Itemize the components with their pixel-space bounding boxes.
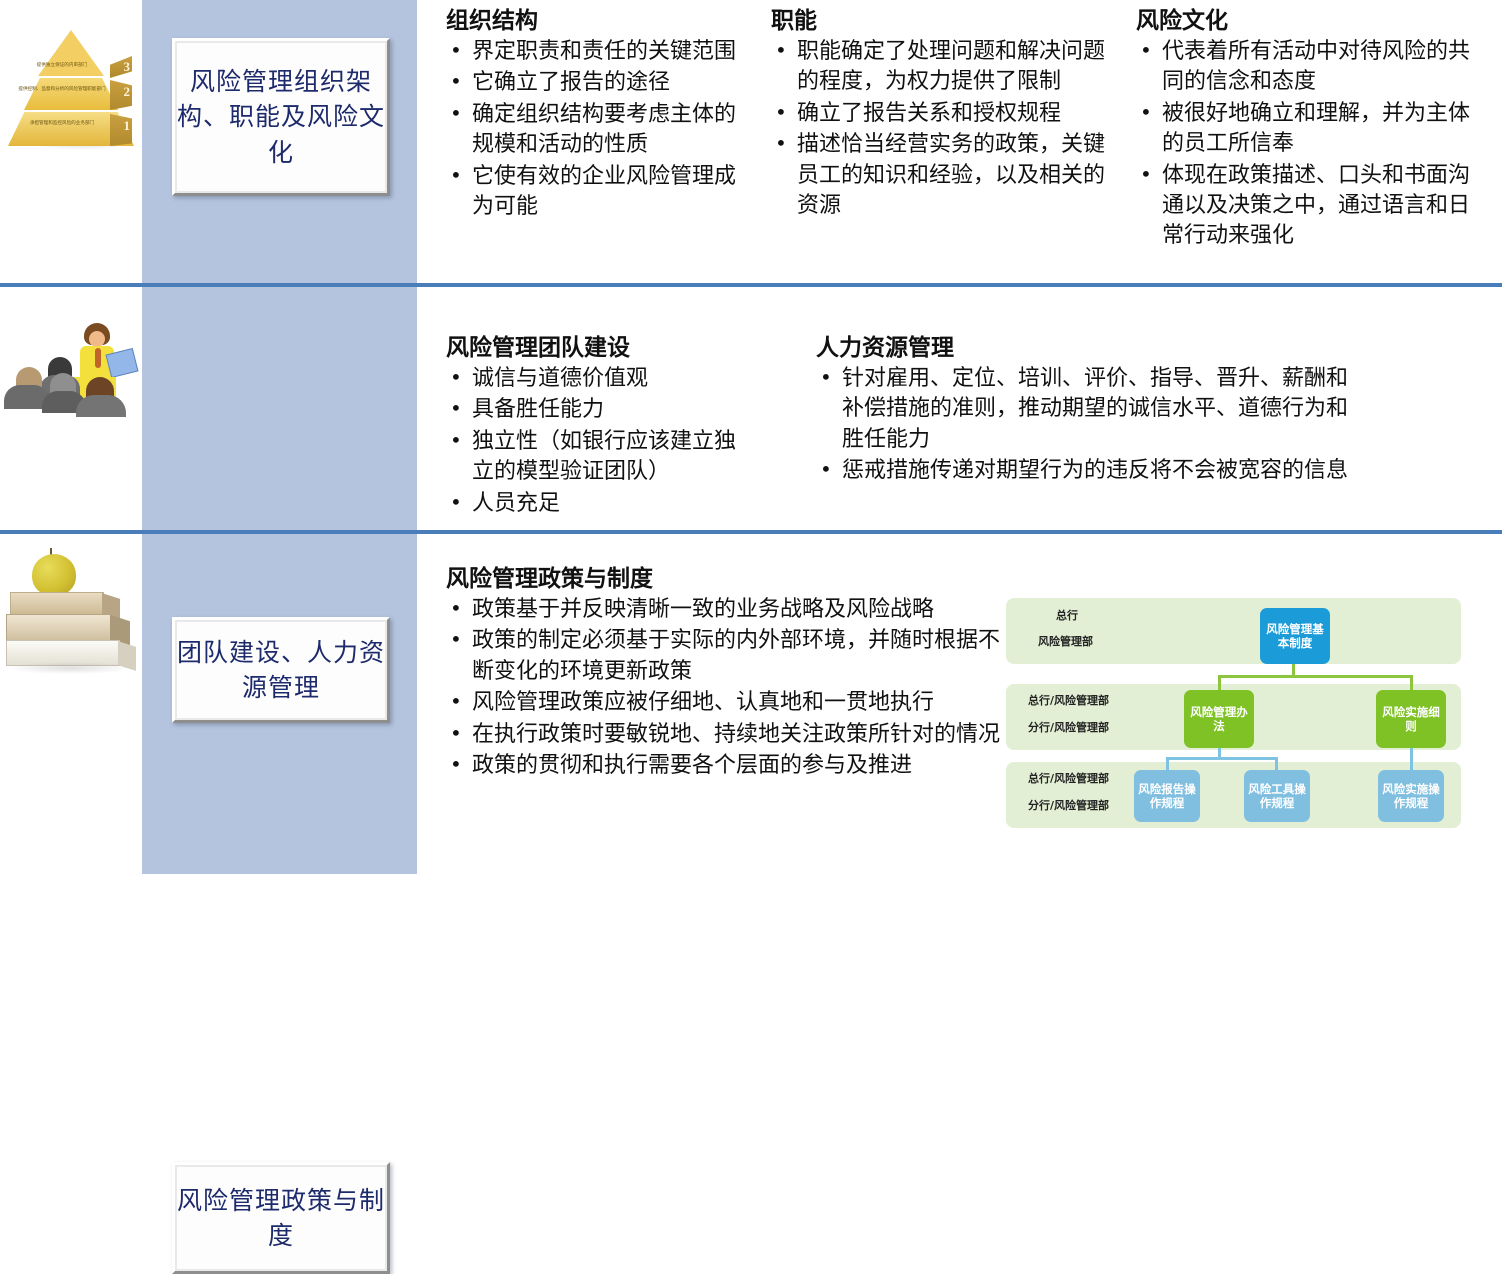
connector-l2-bus <box>1218 675 1413 678</box>
pyramid-icon: 3 2 1 提供独立保证的内审部门 提供控制、监督和分析的风险管理职能部门 承担… <box>8 26 134 156</box>
pyramid-tier-3-number: 3 <box>124 59 131 75</box>
list-item: 政策的贯彻和执行需要各个层面的参与及推进 <box>446 751 1006 781</box>
list-item: 独立性（如银行应该建立独立的模型验证团队） <box>446 427 756 488</box>
list-item: 它使有效的企业风险管理成为可能 <box>446 162 746 223</box>
band-3-label-2: 分行/风险管理部 <box>1028 800 1109 812</box>
row-divider-1 <box>0 283 1502 287</box>
list-item: 体现在政策描述、口头和书面沟通以及决策之中，通过语言和日常行动来强化 <box>1136 161 1488 252</box>
presenter-document <box>106 348 139 378</box>
list-item: 政策基于并反映清晰一致的业务战略及风险战略 <box>446 595 1006 625</box>
apple-body <box>32 554 76 596</box>
list-item: 风险管理政策应被仔细地、认真地和一贯地执行 <box>446 688 1006 718</box>
apple-on-books-icon <box>6 544 136 759</box>
band-1-label-2: 风险管理部 <box>1038 636 1093 648</box>
row-1-label-box[interactable]: 风险管理组织架构、职能及风险文化 <box>172 38 390 196</box>
book-top <box>10 592 104 616</box>
presenter-face <box>89 331 105 347</box>
risk-policy-org-diagram: 总行 风险管理部 总行/风险管理部 分行/风险管理部 总行/风险管理部 分行/风… <box>1006 590 1476 840</box>
bullet-list: 代表着所有活动中对待风险的共同的信念和态度 被很好地确立和理解，并为主体的员工所… <box>1136 37 1488 252</box>
row-3-label-text: 风险管理政策与制度 <box>175 1183 387 1254</box>
book-middle <box>6 614 112 642</box>
list-item: 被很好地确立和理解，并为主体的员工所信奉 <box>1136 99 1488 160</box>
row-1-label-text: 风险管理组织架构、职能及风险文化 <box>175 64 387 171</box>
list-item: 界定职责和责任的关键范围 <box>446 37 746 67</box>
column-heading: 组织结构 <box>446 8 746 35</box>
team-meeting-illustration-cell <box>0 287 142 530</box>
presenter-tie <box>95 348 101 368</box>
list-item: 职能确定了处理问题和解决问题的程度，为权力提供了限制 <box>771 37 1111 98</box>
attendee-body-4 <box>76 395 126 417</box>
pyramid-illustration-cell: 3 2 1 提供独立保证的内审部门 提供控制、监督和分析的风险管理职能部门 承担… <box>0 0 142 283</box>
bullet-list: 诚信与道德价值观 具备胜任能力 独立性（如银行应该建立独立的模型验证团队） 人员… <box>446 364 756 519</box>
column-heading: 职能 <box>771 8 1111 35</box>
team-meeting-icon <box>2 315 142 425</box>
pyramid-tier-2-text: 提供控制、监督和分析的风险管理职能部门 <box>8 86 116 92</box>
list-item: 它确立了报告的途径 <box>446 68 746 98</box>
row-divider-2 <box>0 530 1502 534</box>
list-item: 描述恰当经营实务的政策，关键员工的知识和经验，以及相关的资源 <box>771 130 1111 221</box>
row-1-column-3: 风险文化 代表着所有活动中对待风险的共同的信念和态度 被很好地确立和理解，并为主… <box>1136 8 1488 253</box>
list-item: 代表着所有活动中对待风险的共同的信念和态度 <box>1136 37 1488 98</box>
row-1-column-1: 组织结构 界定职责和责任的关键范围 它确立了报告的途径 确定组织结构要考虑主体的… <box>446 8 746 223</box>
pyramid-tier-3 <box>38 30 104 76</box>
connector-l2-left-drop <box>1218 675 1221 691</box>
connector-l3-drop-3 <box>1410 748 1413 771</box>
band-2-label-2: 分行/风险管理部 <box>1028 722 1109 734</box>
org-node-level2-2[interactable]: 风险实施细则 <box>1376 690 1446 748</box>
band-2-label-1: 总行/风险管理部 <box>1028 695 1109 707</box>
row-3-label-box[interactable]: 风险管理政策与制度 <box>172 1162 390 1274</box>
row-2-column-1: 风险管理团队建设 诚信与道德价值观 具备胜任能力 独立性（如银行应该建立独立的模… <box>446 335 756 520</box>
row-2-column-2: 人力资源管理 针对雇用、定位、培训、评价、指导、晋升、薪酬和补偿措施的准则，推动… <box>816 335 1361 488</box>
list-item: 确定组织结构要考虑主体的规模和活动的性质 <box>446 100 746 161</box>
section-row-2: 团队建设、人力资源管理 风险管理团队建设 诚信与道德价值观 具备胜任能力 独立性… <box>0 287 1502 530</box>
org-node-level2-1[interactable]: 风险管理办法 <box>1184 690 1254 748</box>
connector-l2-right-drop <box>1410 675 1413 691</box>
band-3-label-1: 总行/风险管理部 <box>1028 773 1109 785</box>
section-row-1: 3 2 1 提供独立保证的内审部门 提供控制、监督和分析的风险管理职能部门 承担… <box>0 0 1502 283</box>
books-illustration-cell <box>0 534 142 874</box>
row-1-column-2: 职能 职能确定了处理问题和解决问题的程度，为权力提供了限制 确立了报告关系和授权… <box>771 8 1111 222</box>
org-node-level3-3[interactable]: 风险实施操作规程 <box>1378 770 1444 822</box>
org-node-level1[interactable]: 风险管理基本制度 <box>1260 608 1330 664</box>
diagram-band-1 <box>1006 598 1461 664</box>
bullet-list: 界定职责和责任的关键范围 它确立了报告的途径 确定组织结构要考虑主体的规模和活动… <box>446 37 746 222</box>
pyramid-tier-1-number: 1 <box>124 118 131 134</box>
list-item: 人员充足 <box>446 489 756 519</box>
list-item: 确立了报告关系和授权规程 <box>771 99 1111 129</box>
bullet-list: 政策基于并反映清晰一致的业务战略及风险战略 政策的制定必须基于实际的内外部环境，… <box>446 595 1006 781</box>
column-heading: 人力资源管理 <box>816 335 1361 362</box>
bullet-list: 针对雇用、定位、培训、评价、指导、晋升、薪酬和补偿措施的准则，推动期望的诚信水平… <box>816 364 1361 486</box>
pyramid-tier-2 <box>24 78 118 110</box>
connector-l3-bus-left <box>1166 757 1278 760</box>
list-item: 惩戒措施传递对期望行为的违反将不会被宽容的信息 <box>816 456 1361 486</box>
row-3-column-1: 风险管理政策与制度 政策基于并反映清晰一致的业务战略及风险战略 政策的制定必须基… <box>446 566 1006 782</box>
band-1-label-1: 总行 <box>1056 610 1078 622</box>
pyramid-tier-3-text: 提供独立保证的内审部门 <box>8 62 116 68</box>
bullet-list: 职能确定了处理问题和解决问题的程度，为权力提供了限制 确立了报告关系和授权规程 … <box>771 37 1111 221</box>
connector-l3-drop-2 <box>1275 757 1278 771</box>
pyramid-tier-1-text: 承担管理和监控风险的业务部门 <box>8 120 116 126</box>
list-item: 在执行政策时要敏锐地、持续地关注政策所针对的情况 <box>446 720 1006 750</box>
books-shadow <box>8 662 132 674</box>
list-item: 诚信与道德价值观 <box>446 364 756 394</box>
column-heading: 风险文化 <box>1136 8 1488 35</box>
org-node-level3-2[interactable]: 风险工具操作规程 <box>1244 770 1310 822</box>
list-item: 具备胜任能力 <box>446 395 756 425</box>
connector-l3-drop-1 <box>1166 757 1169 771</box>
column-heading: 风险管理政策与制度 <box>446 566 1006 593</box>
list-item: 针对雇用、定位、培训、评价、指导、晋升、薪酬和补偿措施的准则，推动期望的诚信水平… <box>816 364 1361 455</box>
pyramid-tier-2-number: 2 <box>124 84 131 100</box>
org-node-level3-1[interactable]: 风险报告操作规程 <box>1134 770 1200 822</box>
list-item: 政策的制定必须基于实际的内外部环境，并随时根据不断变化的环境更新政策 <box>446 626 1006 687</box>
column-heading: 风险管理团队建设 <box>446 335 756 362</box>
